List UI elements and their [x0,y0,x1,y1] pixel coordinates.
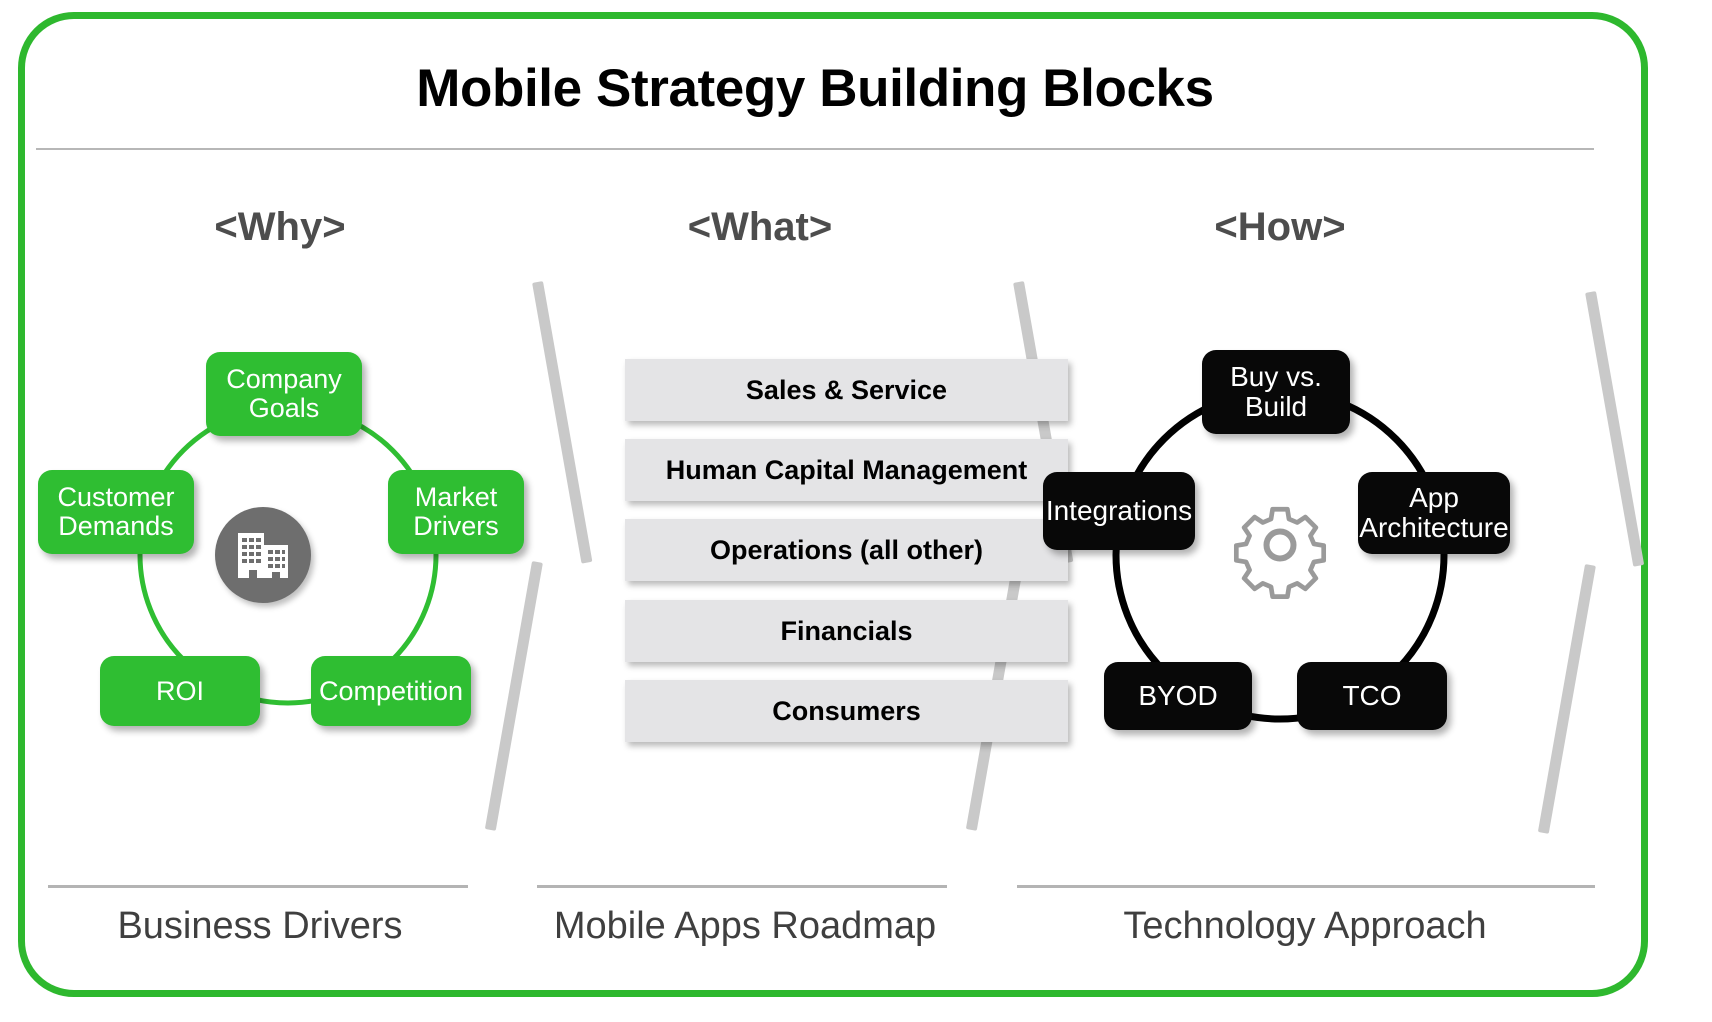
bar-label: Financials [780,616,912,647]
roadmap-bar-sales-service[interactable]: Sales & Service [625,359,1068,421]
bar-label: Operations (all other) [710,535,983,566]
office-buildings-medallion [215,507,311,603]
column-header-why: <Why> [110,205,450,250]
node-label: Competition [319,677,463,706]
node-tco[interactable]: TCO [1297,662,1447,730]
gear-icon [1224,500,1336,612]
roadmap-bar-financials[interactable]: Financials [625,600,1068,662]
roadmap-bar-consumers[interactable]: Consumers [625,680,1068,742]
column-header-how: <How> [1110,205,1450,250]
node-label: Integrations [1046,496,1192,526]
node-market-drivers[interactable]: MarketDrivers [388,470,524,554]
footer-divider-2 [537,885,947,888]
node-company-goals[interactable]: CompanyGoals [206,352,362,436]
node-competition[interactable]: Competition [311,656,471,726]
node-roi[interactable]: ROI [100,656,260,726]
footer-divider-1 [48,885,468,888]
node-buy-vs-build[interactable]: Buy vs.Build [1202,350,1350,434]
node-label: CustomerDemands [57,483,174,540]
footer-caption-mobile-apps-roadmap: Mobile Apps Roadmap [520,905,970,948]
node-label: BYOD [1138,681,1217,711]
node-label: TCO [1342,681,1401,711]
bar-label: Consumers [772,696,921,727]
page-title: Mobile Strategy Building Blocks [0,58,1630,119]
node-label: CompanyGoals [226,365,342,422]
node-label: AppArchitecture [1359,483,1508,542]
node-customer-demands[interactable]: CustomerDemands [38,470,194,554]
node-label: Buy vs.Build [1230,362,1322,421]
footer-divider-3 [1017,885,1595,888]
node-app-architecture[interactable]: AppArchitecture [1358,472,1510,554]
footer-caption-business-drivers: Business Drivers [30,905,490,948]
node-integrations[interactable]: Integrations [1043,472,1195,550]
office-buildings-icon [234,528,292,582]
column-header-what: <What> [590,205,930,250]
node-label: MarketDrivers [413,483,499,540]
bar-label: Sales & Service [746,375,947,406]
bar-label: Human Capital Management [666,455,1028,486]
roadmap-bar-human-capital-management[interactable]: Human Capital Management [625,439,1068,501]
roadmap-bar-operations[interactable]: Operations (all other) [625,519,1068,581]
slide-canvas: Mobile Strategy Building Blocks <Why> <W… [0,0,1712,1022]
title-divider [36,148,1594,150]
footer-caption-technology-approach: Technology Approach [990,905,1620,948]
node-label: ROI [156,677,204,706]
node-byod[interactable]: BYOD [1104,662,1252,730]
